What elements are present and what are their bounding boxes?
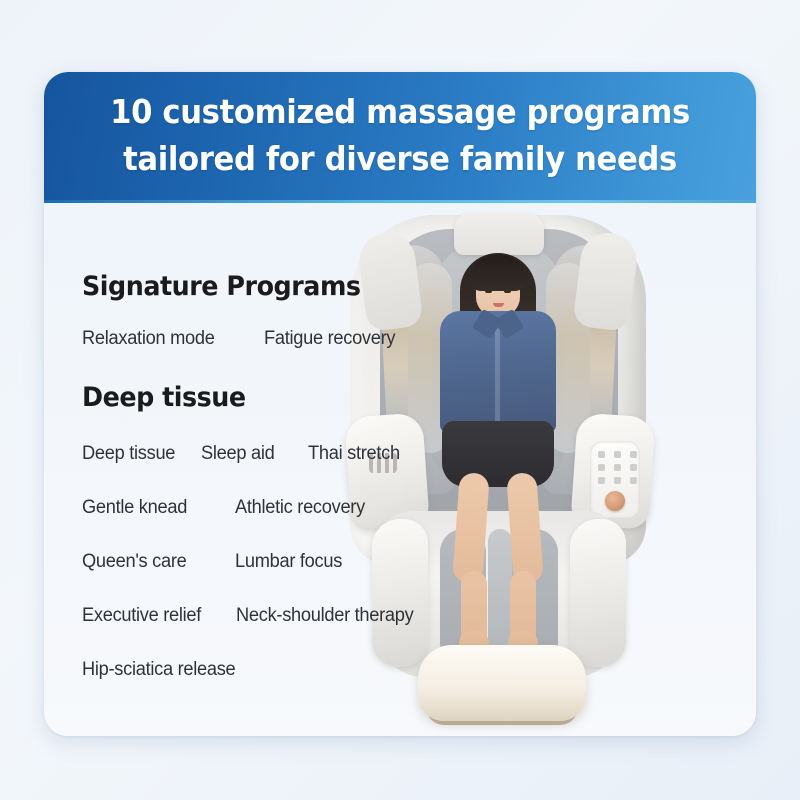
program-fatigue-recovery[interactable]: Fatigue recovery [264,328,395,350]
chair-control-panel[interactable] [590,441,640,519]
chair-calf-shell-right [570,519,626,667]
program-row: Queen's care Lumbar focus [82,551,472,573]
program-executive-relief[interactable]: Executive relief [82,605,201,627]
banner-title: 10 customized massage programs tailored … [93,89,707,183]
power-dial-icon[interactable] [605,491,625,511]
program-gentle-knead[interactable]: Gentle knead [82,497,187,519]
control-button[interactable] [614,464,621,471]
program-neck-shoulder-therapy[interactable]: Neck-shoulder therapy [236,605,413,627]
program-queens-care[interactable]: Queen's care [82,551,186,573]
program-relaxation-mode[interactable]: Relaxation mode [82,328,215,350]
person-mouth [493,303,504,307]
card-header-banner: 10 customized massage programs tailored … [44,72,756,203]
control-button[interactable] [614,451,621,458]
program-thai-stretch[interactable]: Thai stretch [308,443,400,465]
deep-tissue-heading: Deep tissue [82,382,449,413]
shirt-placket [495,325,500,425]
program-sleep-aid[interactable]: Sleep aid [201,443,274,465]
signature-programs-heading: Signature Programs [82,271,449,302]
control-button[interactable] [598,477,605,484]
control-button[interactable] [630,451,637,458]
program-row: Gentle knead Athletic recovery [82,497,472,519]
chair-headrest [454,213,544,255]
program-lumbar-focus[interactable]: Lumbar focus [235,551,342,573]
card-body: Signature Programs Relaxation mode Fatig… [44,203,756,736]
program-row: Hip-sciatica release [82,659,472,681]
control-button[interactable] [598,464,605,471]
program-athletic-recovery[interactable]: Athletic recovery [235,497,365,519]
massage-programs-card: 10 customized massage programs tailored … [44,72,756,736]
program-row: Executive relief Neck-shoulder therapy [82,605,472,627]
program-deep-tissue[interactable]: Deep tissue [82,443,175,465]
program-row: Deep tissue Sleep aid Thai stretch [82,443,472,465]
control-button[interactable] [614,477,621,484]
program-row: Relaxation mode Fatigue recovery [82,328,472,350]
program-list: Signature Programs Relaxation mode Fatig… [82,271,472,681]
control-button-grid[interactable] [598,451,641,484]
control-button[interactable] [598,451,605,458]
control-button[interactable] [630,464,637,471]
program-hip-sciatica-release[interactable]: Hip-sciatica release [82,659,235,681]
control-button[interactable] [630,477,637,484]
